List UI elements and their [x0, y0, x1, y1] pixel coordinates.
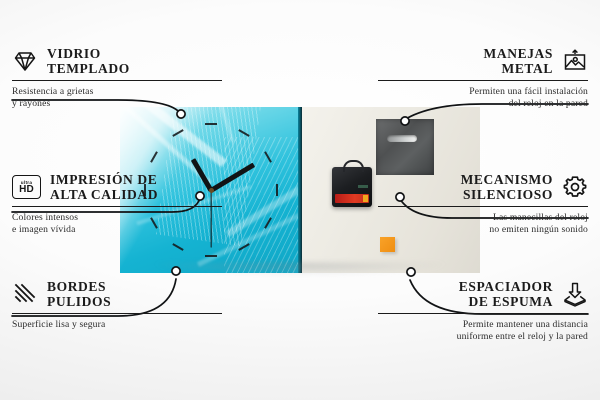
- mechanism-loop: [343, 160, 364, 172]
- feature-header: BORDESPULIDOS: [12, 279, 222, 309]
- infographic-canvas: VIDRIOTEMPLADO Resistencia a grietasy ra…: [0, 0, 600, 400]
- feature-silent-mechanism: MECANISMOSILENCIOSO Las manecillas del r…: [378, 172, 588, 236]
- feature-foam-spacer: ESPACIADORDE ESPUMA Permite mantener una…: [378, 279, 588, 343]
- feature-tempered-glass: VIDRIOTEMPLADO Resistencia a grietasy ra…: [12, 46, 222, 110]
- clock-mechanism-box: [332, 167, 372, 207]
- divider: [12, 313, 222, 314]
- hanger-slot: [387, 135, 417, 142]
- divider: [378, 80, 588, 81]
- clock-tick: [205, 123, 217, 125]
- metal-hanger-plate: [376, 119, 434, 175]
- feature-high-quality-print: ultra HD IMPRESIÓN DEALTA CALIDAD Colore…: [12, 172, 222, 236]
- feature-subtitle: Permiten una fácil instalacióndel reloj …: [378, 86, 588, 110]
- feature-title: IMPRESIÓN DEALTA CALIDAD: [50, 172, 158, 202]
- feature-title: MECANISMOSILENCIOSO: [461, 172, 553, 202]
- feature-polished-edges: BORDESPULIDOS Superficie lisa y segura: [12, 279, 222, 331]
- divider: [12, 206, 222, 207]
- divider: [378, 313, 588, 314]
- clock-tick: [276, 184, 278, 196]
- ultra-hd-icon: ultra HD: [12, 175, 41, 199]
- diamond-icon: [12, 48, 38, 74]
- feature-header: ultra HD IMPRESIÓN DEALTA CALIDAD: [12, 172, 222, 202]
- foam-spacer-pad: [380, 237, 395, 252]
- feather-texture-2: [224, 137, 302, 273]
- feature-title: BORDESPULIDOS: [47, 279, 111, 309]
- divider: [12, 80, 222, 81]
- feature-title: MANEJASMETAL: [484, 46, 553, 76]
- feature-subtitle: Colores intensose imagen vívida: [12, 212, 222, 236]
- diagonal-lines-icon: [12, 281, 38, 307]
- feature-subtitle: Las manecillas del relojno emiten ningún…: [378, 212, 588, 236]
- feature-subtitle: Superficie lisa y segura: [12, 319, 222, 331]
- feature-title: VIDRIOTEMPLADO: [47, 46, 130, 76]
- down-arrow-layers-icon: [562, 281, 588, 307]
- mechanism-detail: [358, 185, 368, 188]
- clock-tick: [205, 255, 217, 257]
- clock-tick: [172, 243, 183, 251]
- divider: [378, 206, 588, 207]
- feature-header: VIDRIOTEMPLADO: [12, 46, 222, 76]
- gear-icon: [562, 174, 588, 200]
- clock-tick: [150, 151, 158, 162]
- feature-header: MANEJASMETAL: [378, 46, 588, 76]
- feature-subtitle: Resistencia a grietasy rayones: [12, 86, 222, 110]
- feature-title: ESPACIADORDE ESPUMA: [459, 279, 553, 309]
- picture-frame-icon: [562, 48, 588, 74]
- battery: [335, 194, 369, 203]
- feature-header: ESPACIADORDE ESPUMA: [378, 279, 588, 309]
- feature-subtitle: Permite mantener una distanciauniforme e…: [378, 319, 588, 343]
- feature-header: MECANISMOSILENCIOSO: [378, 172, 588, 202]
- feature-metal-handles: MANEJASMETAL Permiten una fácil instalac…: [378, 46, 588, 110]
